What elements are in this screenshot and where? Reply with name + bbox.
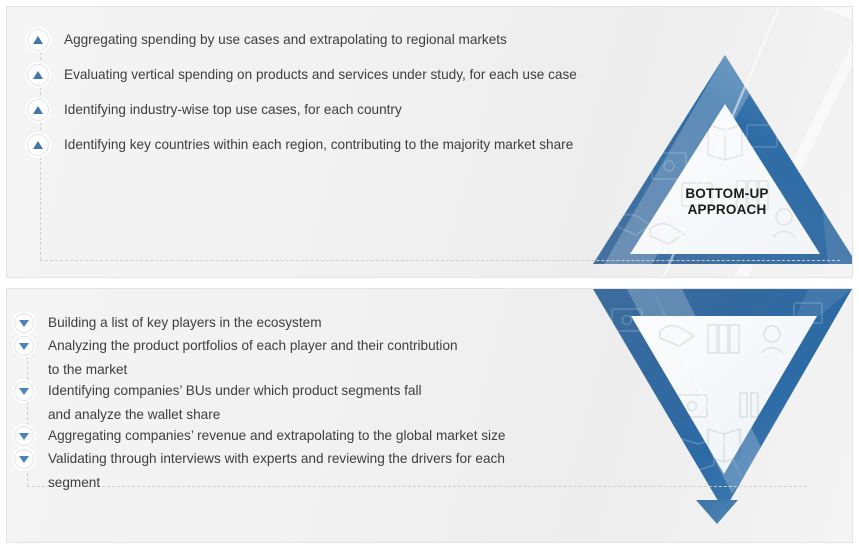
list-item-label: Identifying key countries within each re… (49, 134, 573, 156)
bullet-connector-baseline-top (40, 260, 840, 261)
triangle-down-icon (14, 336, 34, 356)
bottom-up-approach-label: BOTTOM-UP APPROACH (647, 186, 807, 218)
list-item: Evaluating vertical spending on products… (27, 64, 667, 99)
diagram-canvas: BOTTOM-UP APPROACH Aggregating spending … (0, 0, 859, 549)
triangle-up-icon (27, 29, 49, 51)
list-item: Building a list of key players in the ec… (14, 313, 614, 336)
list-item-label: Analyzing the product portfolios of each… (34, 334, 458, 381)
list-item: Identifying companies’ BUs under which p… (14, 381, 614, 426)
triangle-up-icon (27, 64, 49, 86)
triangle-down-icon (14, 426, 34, 446)
list-item-label: Aggregating spending by use cases and ex… (49, 29, 507, 51)
triangle-up-icon (27, 134, 49, 156)
bottom-up-approach-panel: BOTTOM-UP APPROACH Aggregating spending … (6, 6, 853, 278)
bottom-up-bullet-list: Aggregating spending by use cases and ex… (27, 29, 667, 169)
triangle-up-icon (27, 99, 49, 121)
list-item: Identifying industry-wise top use cases,… (27, 99, 667, 134)
list-item-label: Identifying companies’ BUs under which p… (34, 379, 422, 426)
list-item-label: Validating through interviews with exper… (34, 447, 505, 494)
triangle-down-icon (14, 313, 34, 333)
top-down-bullet-list: Building a list of key players in the ec… (14, 313, 614, 494)
triangle-down-icon (14, 381, 34, 401)
triangle-down-icon (14, 449, 34, 469)
list-item-label: Aggregating companies’ revenue and extra… (34, 424, 505, 448)
list-item-label: Identifying industry-wise top use cases,… (49, 99, 402, 121)
list-item: Validating through interviews with exper… (14, 449, 614, 494)
list-item-label: Evaluating vertical spending on products… (49, 64, 577, 86)
list-item: Identifying key countries within each re… (27, 134, 667, 169)
list-item-label: Building a list of key players in the ec… (34, 311, 322, 335)
list-item: Aggregating companies’ revenue and extra… (14, 426, 614, 449)
list-item: Aggregating spending by use cases and ex… (27, 29, 667, 64)
list-item: Analyzing the product portfolios of each… (14, 336, 614, 381)
